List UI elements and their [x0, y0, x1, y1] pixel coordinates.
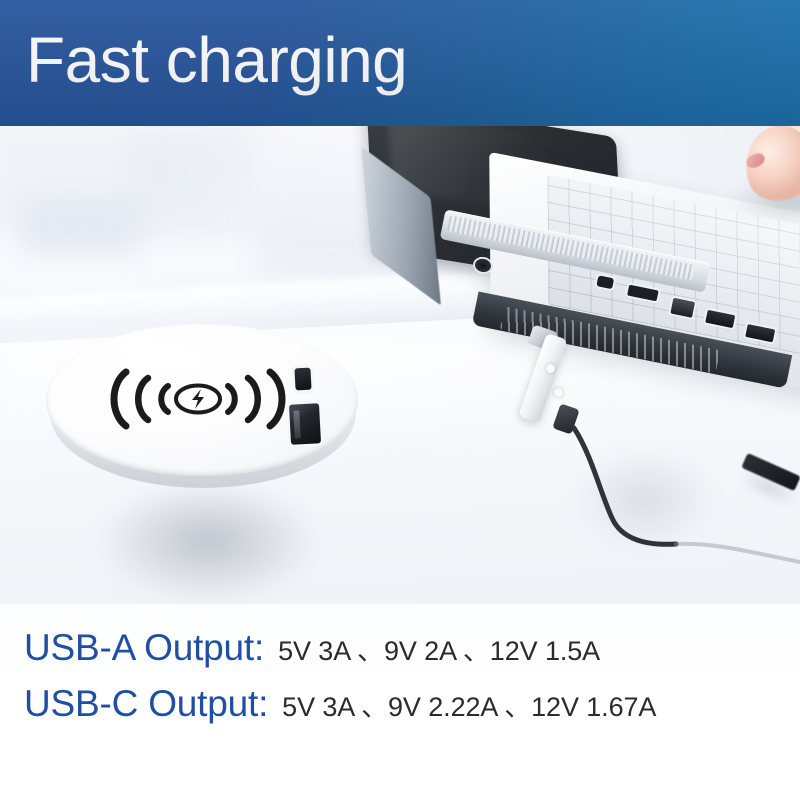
wireless-charging-icon	[108, 364, 288, 434]
wireless-charging-pad	[46, 324, 360, 492]
usb-cable	[500, 306, 800, 596]
spec-label-usb-c: USB-C Output:	[24, 682, 268, 726]
banner-title: Fast charging	[26, 24, 407, 96]
window-pane-background	[20, 196, 140, 256]
spec-value-usb-c: 5V 3A 、9V 2.22A 、12V 1.67A	[282, 685, 656, 729]
vga-port	[596, 275, 614, 289]
usb-a-port	[289, 403, 321, 445]
usb-c-port	[294, 368, 311, 391]
connector-detail	[554, 388, 563, 397]
header-banner: Fast charging	[0, 0, 800, 126]
spec-row: USB-C Output: 5V 3A 、9V 2.22A 、12V 1.67A	[24, 682, 656, 729]
spec-row: USB-A Output: 5V 3A 、9V 2A 、12V 1.5A	[24, 626, 600, 673]
connector-detail	[546, 364, 555, 373]
hand	[710, 126, 800, 228]
product-feature-image: Fast charging	[0, 0, 800, 800]
spec-label-usb-a: USB-A Output:	[24, 626, 264, 670]
product-photo	[0, 126, 800, 604]
spec-list: USB-A Output: 5V 3A 、9V 2A 、12V 1.5A USB…	[0, 604, 800, 800]
spec-value-usb-a: 5V 3A 、9V 2A 、12V 1.5A	[278, 629, 600, 673]
hdmi-port	[627, 285, 659, 302]
